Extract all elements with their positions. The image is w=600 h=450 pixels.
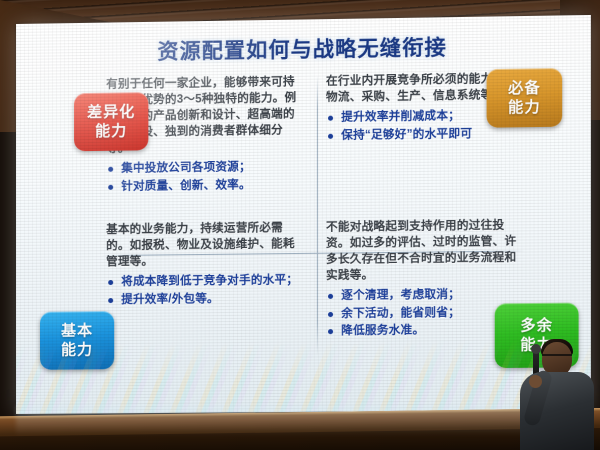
badge-essential-capability: 必备 能力 [487, 68, 563, 128]
bullet-text: 针对质量、创新、效率。 [121, 179, 251, 193]
presentation-screen: 资源配置如何与战略无缝衔接 有别于任何一家企业，能够带来可持续竞争优势的3～5种… [16, 15, 591, 414]
bullet-dot-icon [108, 298, 113, 303]
bullet-item: 针对质量、创新、效率。 [106, 177, 304, 195]
slide: 资源配置如何与战略无缝衔接 有别于任何一家企业，能够带来可持续竞争优势的3～5种… [16, 15, 591, 414]
quadrant-basic: 基本的业务能力，持续运营所必需的。如报税、物业及设施维护、能耗管理等。 将成本降… [94, 214, 312, 362]
bullet-item: 将成本降到低于竞争对手的水平； [106, 273, 304, 291]
bullet-text: 提升效率/外包等。 [121, 292, 219, 305]
quadrant-bullet-list: 将成本降到低于竞争对手的水平； 提升效率/外包等。 [106, 273, 304, 308]
bullet-item: 降低服务水准。 [326, 322, 523, 339]
microphone-head-icon [531, 344, 541, 354]
badge-line-2: 能力 [508, 98, 541, 118]
bullet-dot-icon [328, 311, 333, 316]
badge-differentiating-capability: 差异化 能力 [74, 92, 148, 151]
badge-line-1: 基本 [61, 321, 93, 340]
bullet-dot-icon [328, 116, 333, 121]
slide-title: 资源配置如何与战略无缝衔接 [16, 29, 591, 68]
quadrant-description: 不能对战略起到支持作用的过往投资。如过多的评估、过时的监管、许多长久存在但不合时… [326, 217, 523, 284]
badge-line-1: 差异化 [87, 102, 135, 122]
presenter-hand [529, 375, 542, 388]
bullet-text: 将成本降到低于竞争对手的水平； [121, 274, 298, 288]
bullet-dot-icon [328, 133, 333, 138]
bullet-text: 保持“足够好”的水平即可 [341, 127, 472, 141]
bullet-text: 逐个清理，考虑取消； [341, 289, 460, 302]
bullet-dot-icon [328, 294, 333, 299]
capability-matrix: 有别于任何一家企业，能够带来可持续竞争优势的3～5种独特的能力。例如独特的产品创… [94, 64, 531, 361]
badge-basic-capability: 基本 能力 [40, 311, 114, 370]
bullet-item: 逐个清理，考虑取消； [326, 287, 523, 305]
bullet-text: 降低服务水准。 [341, 324, 424, 337]
quadrant-bullet-list: 集中投放公司各项资源； 针对质量、创新、效率。 [106, 159, 304, 195]
bullet-item: 提升效率/外包等。 [106, 291, 304, 308]
quadrant-bullet-list: 逐个清理，考虑取消； 余下活动，能省则省； 降低服务水准。 [326, 287, 523, 340]
bullet-dot-icon [108, 184, 113, 189]
bullet-text: 集中投放公司各项资源； [121, 161, 251, 175]
bullet-dot-icon [328, 329, 333, 334]
badge-line-2: 能力 [95, 121, 127, 140]
quadrant-description: 基本的业务能力，持续运营所必需的。如报税、物业及设施维护、能耗管理等。 [106, 220, 304, 270]
bullet-item: 余下活动，能省则省； [326, 305, 523, 323]
presenter-glasses [542, 354, 572, 361]
bullet-text: 余下活动，能省则省； [341, 306, 460, 319]
badge-line-1: 多余 [520, 316, 553, 336]
badge-line-1: 必备 [508, 78, 541, 98]
presenter-person [508, 336, 594, 450]
bullet-item: 集中投放公司各项资源； [106, 159, 304, 177]
bullet-text: 提升效率并削减成本； [341, 110, 460, 124]
bullet-dot-icon [108, 167, 113, 172]
bullet-item: 保持“足够好”的水平即可 [326, 126, 523, 144]
badge-line-2: 能力 [61, 340, 93, 359]
bullet-dot-icon [108, 280, 113, 285]
